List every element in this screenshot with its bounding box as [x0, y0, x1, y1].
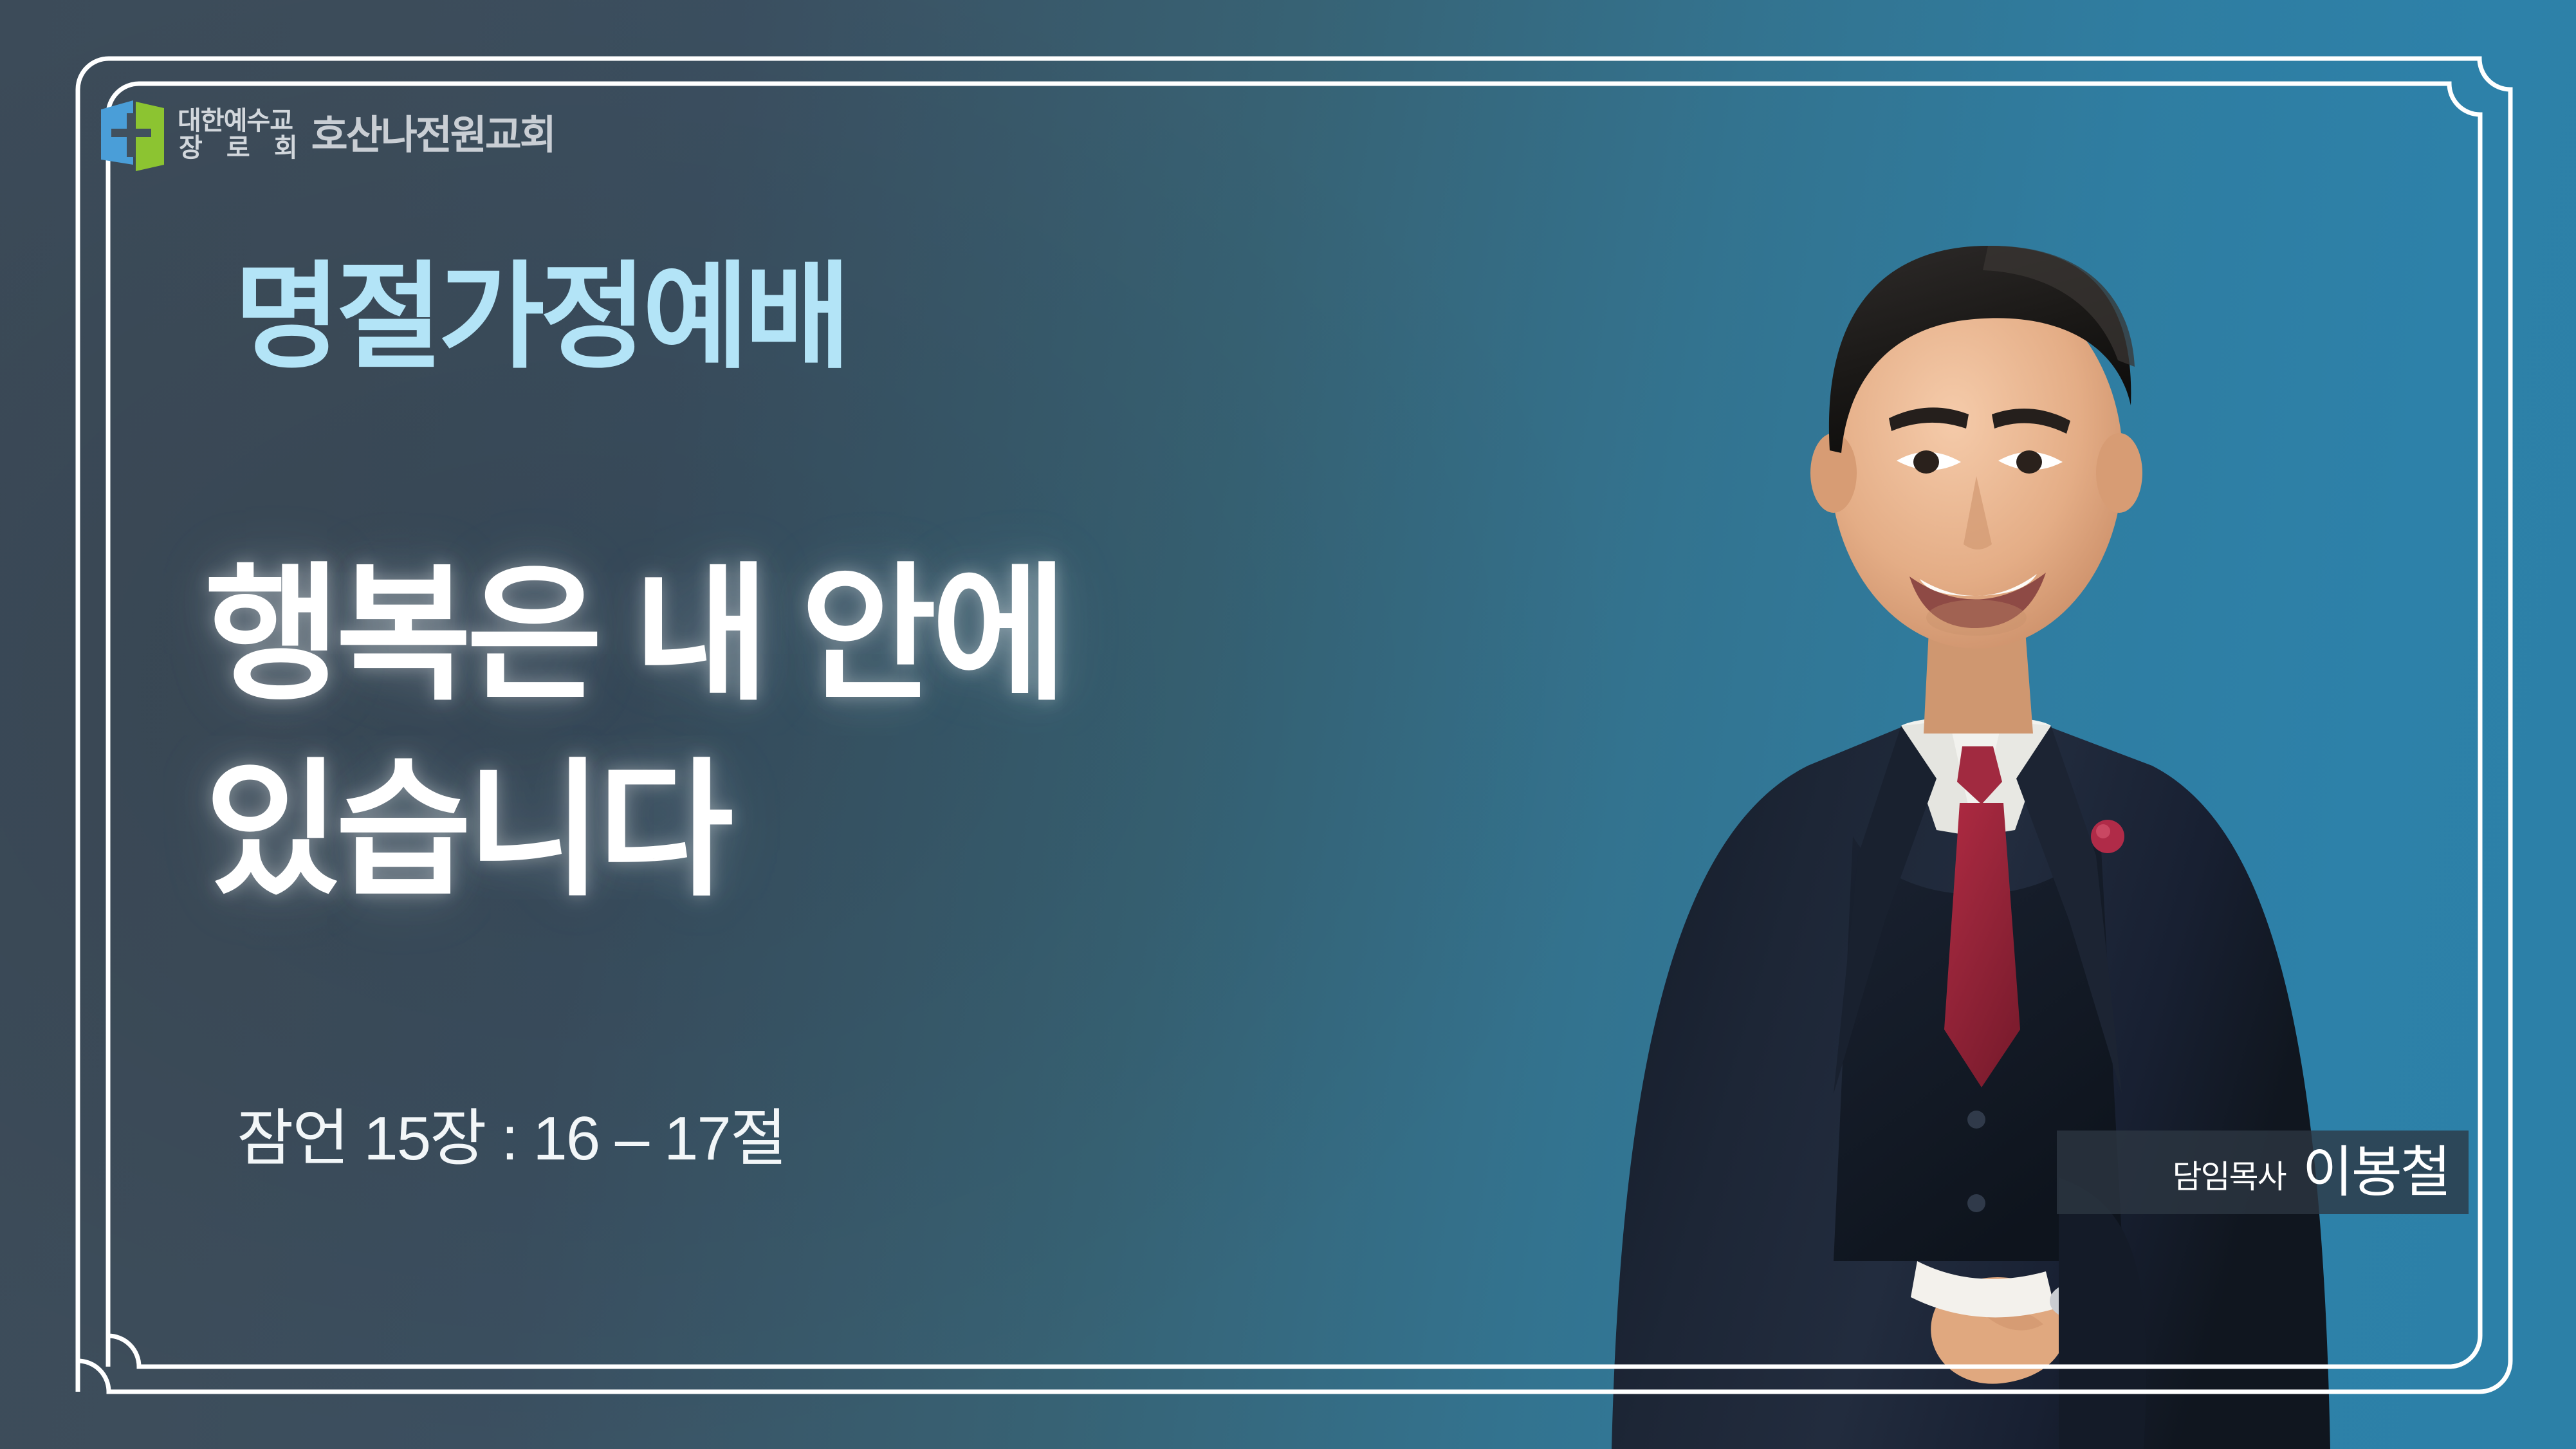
speaker-name: 이봉철	[2303, 1145, 2449, 1200]
denomination-line-2: 장 로 회	[178, 134, 306, 162]
headline-line-1: 행복은 내 안에	[205, 537, 1062, 733]
open-door-cross-icon	[100, 98, 167, 172]
service-subtitle: 명절가정예배	[234, 260, 847, 376]
denomination-line-1: 대한예수교	[178, 107, 306, 134]
pastor-portrait-image	[1319, 0, 2413, 1449]
denomination-text: 대한예수교 장 로 회	[178, 107, 306, 162]
vest-button	[1967, 1194, 1985, 1212]
scripture-reference: 잠언 15장 : 16 – 17절	[237, 1108, 786, 1170]
speaker-role: 담임목사	[2173, 1161, 2286, 1193]
church-name: 호산나전원교회	[311, 116, 555, 156]
headline-line-2: 있습니다	[205, 733, 1062, 928]
logo-cross-stem	[127, 113, 135, 157]
pastor-portrait	[1319, 0, 2413, 1449]
right-eye	[2016, 450, 2042, 474]
vest-button	[1967, 1111, 1985, 1129]
left-eye	[1913, 450, 1939, 474]
sermon-title-slide: 대한예수교 장 로 회 호산나전원교회 명절가정예배 행복은 내 안에 있습니다…	[0, 0, 2576, 1449]
sermon-headline: 행복은 내 안에 있습니다	[205, 537, 1062, 928]
speaker-badge: 담임목사 이봉철	[2057, 1131, 2469, 1214]
church-logo: 대한예수교 장 로 회 호산나전원교회	[100, 97, 555, 172]
